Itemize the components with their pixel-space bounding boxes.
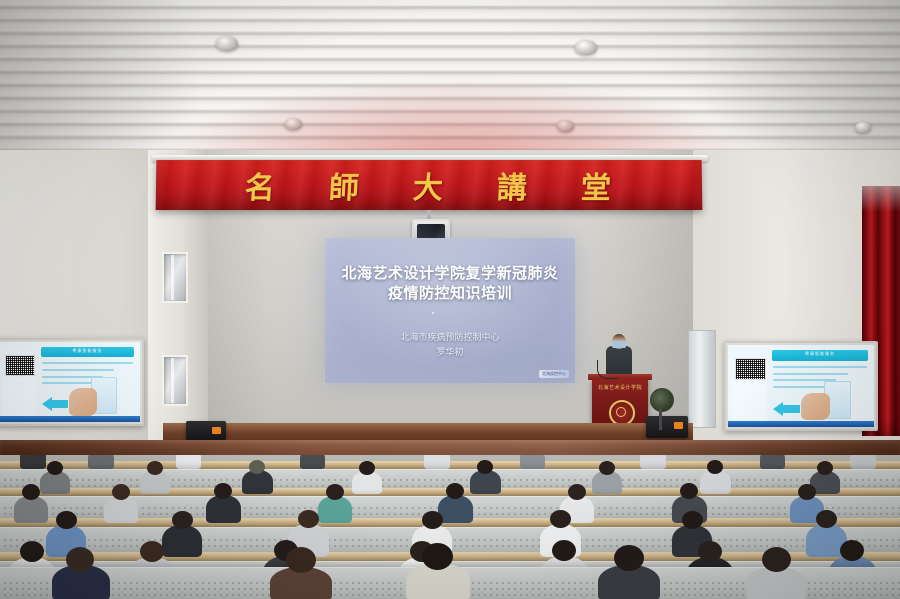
- attendee-head: [140, 541, 164, 562]
- arrow-body: [782, 405, 800, 413]
- slide-organization: 北海市疾病预防控制中心: [325, 330, 575, 345]
- attendee-head-with-cap: [249, 460, 265, 474]
- attendee-head: [599, 461, 615, 475]
- wall-niche-lower: [162, 355, 188, 406]
- attendee: [20, 455, 46, 469]
- screen-glow: [325, 238, 575, 383]
- arrow-left-icon: [42, 397, 52, 411]
- wall-niche-upper: [162, 252, 188, 303]
- standing-fan-icon: [650, 388, 674, 412]
- monitor-sidebar: [2, 377, 36, 415]
- ceiling-panels: [0, 0, 900, 168]
- attendee: [104, 496, 138, 523]
- slide-logo: 北海疾控中心: [539, 370, 569, 378]
- attendee-head: [682, 511, 703, 529]
- slide-bullet-dot: [432, 312, 434, 314]
- monitor-text-line: [773, 366, 866, 368]
- attendee: [88, 455, 114, 469]
- auditorium-photo: 名 師 大 講 堂 北海艺术设计学院复学新冠肺炎 疫情防控知识培训 北海市疾病预…: [0, 0, 900, 599]
- downlight-icon: [216, 36, 238, 51]
- slide-title-line1: 北海艺术设计学院复学新冠肺炎: [325, 264, 575, 284]
- side-monitor-right: 粤康智能服务: [724, 341, 878, 431]
- attendee-head: [762, 547, 791, 572]
- arrow-body: [51, 400, 68, 408]
- attendee-head: [326, 484, 344, 500]
- attendee-head: [568, 484, 586, 500]
- monitor-text-line: [42, 382, 97, 384]
- attendee-head: [359, 461, 375, 475]
- hand-illustration: [801, 393, 830, 421]
- attendee: [424, 455, 450, 469]
- monitor-text-line: [773, 386, 830, 388]
- fan-pole: [659, 408, 662, 430]
- banner-char-5: 堂: [580, 163, 614, 207]
- attendee-head: [20, 541, 44, 562]
- side-monitor-left: 粤康智能服务: [0, 338, 144, 426]
- downlight-icon: [557, 120, 574, 132]
- attendee-head: [798, 484, 816, 500]
- monitor-screen-right: 粤康智能服务: [728, 345, 874, 427]
- attendee-head: [698, 541, 722, 562]
- attendee-head: [286, 547, 316, 573]
- monitor-taskbar: [0, 416, 140, 422]
- attendee-head: [614, 545, 644, 571]
- attendee-head: [172, 511, 193, 529]
- arrow-left-icon: [773, 402, 783, 416]
- qr-code-icon: [5, 355, 35, 376]
- banner-text: 名 師 大 講 堂: [245, 163, 613, 207]
- amplifier-left: [186, 421, 226, 440]
- downlight-icon: [855, 122, 871, 133]
- attendee: [640, 455, 666, 469]
- monitor-header-text: 粤康智能服务: [772, 350, 868, 358]
- amplifier-led: [212, 427, 221, 434]
- ceiling-shading: [0, 0, 900, 168]
- curtain-highlight: [862, 186, 900, 212]
- monitor-text-line: [42, 362, 133, 364]
- attendee-head: [840, 540, 864, 561]
- monitor-screen-left: 粤康智能服务: [0, 342, 140, 422]
- attendee: [300, 455, 325, 469]
- attendee-head: [422, 543, 453, 570]
- attendee-head: [707, 460, 723, 474]
- monitor-header-text: 粤康智能服务: [41, 347, 135, 355]
- qr-code-icon: [735, 358, 766, 380]
- monitor-header-bar: 粤康智能服务: [772, 350, 868, 361]
- attendee-head: [22, 484, 40, 500]
- attendee-head: [552, 540, 576, 561]
- attendee-head: [817, 461, 833, 475]
- amplifier-right: [646, 416, 688, 438]
- attendee-head: [214, 483, 232, 499]
- attendee: [14, 496, 48, 523]
- attendee-head: [112, 484, 130, 500]
- attendee: [438, 495, 473, 523]
- monitor-taskbar: [728, 421, 874, 427]
- face-mask-icon: [612, 341, 626, 348]
- slide-presenter: 罗华初: [325, 345, 575, 360]
- banner-char-1: 名: [244, 163, 279, 207]
- attendee: [206, 495, 241, 523]
- monitor-text-line: [42, 369, 114, 371]
- banner-char-2: 師: [328, 163, 363, 207]
- monitor-header-bar: 粤康智能服务: [41, 347, 135, 357]
- amplifier-led: [674, 422, 683, 429]
- attendee-head: [477, 460, 493, 474]
- audience-seating-area: [0, 455, 900, 599]
- attendee-head: [446, 483, 464, 499]
- attendee-head: [680, 483, 698, 499]
- attendee-head: [550, 510, 571, 528]
- hand-illustration: [69, 388, 97, 415]
- attendee-head: [422, 511, 443, 529]
- monitor-text-line: [773, 373, 847, 375]
- downlight-icon: [575, 40, 597, 55]
- attendee-head: [816, 510, 837, 528]
- banner-char-4: 講: [496, 163, 530, 207]
- attendee: [176, 455, 201, 469]
- monitor-sidebar: [732, 381, 767, 420]
- attendee: [850, 455, 876, 469]
- attendee-head: [147, 461, 163, 475]
- microphone-icon: [597, 360, 618, 379]
- stage-side-door[interactable]: [688, 330, 716, 428]
- attendee-head: [298, 510, 319, 528]
- slide-subtitle: 北海市疾病预防控制中心 罗华初: [325, 330, 575, 360]
- downlight-icon: [285, 118, 302, 130]
- slide-title-line2: 疫情防控知识培训: [325, 284, 575, 304]
- attendee-head: [47, 461, 63, 475]
- attendee-head: [56, 511, 77, 529]
- projection-screen: 北海艺术设计学院复学新冠肺炎 疫情防控知识培训 北海市疾病预防控制中心 罗华初 …: [325, 238, 575, 383]
- overhead-red-banner: 名 師 大 講 堂: [156, 160, 703, 210]
- attendee: [162, 525, 202, 557]
- attendee: [760, 455, 785, 469]
- slide-title: 北海艺术设计学院复学新冠肺炎 疫情防控知识培训: [325, 264, 575, 304]
- attendee: [318, 496, 352, 523]
- attendee-head: [66, 547, 94, 572]
- banner-char-3: 大: [412, 163, 446, 207]
- podium-sign-text: 北海艺术设计学院: [592, 384, 648, 391]
- attendee: [520, 455, 545, 469]
